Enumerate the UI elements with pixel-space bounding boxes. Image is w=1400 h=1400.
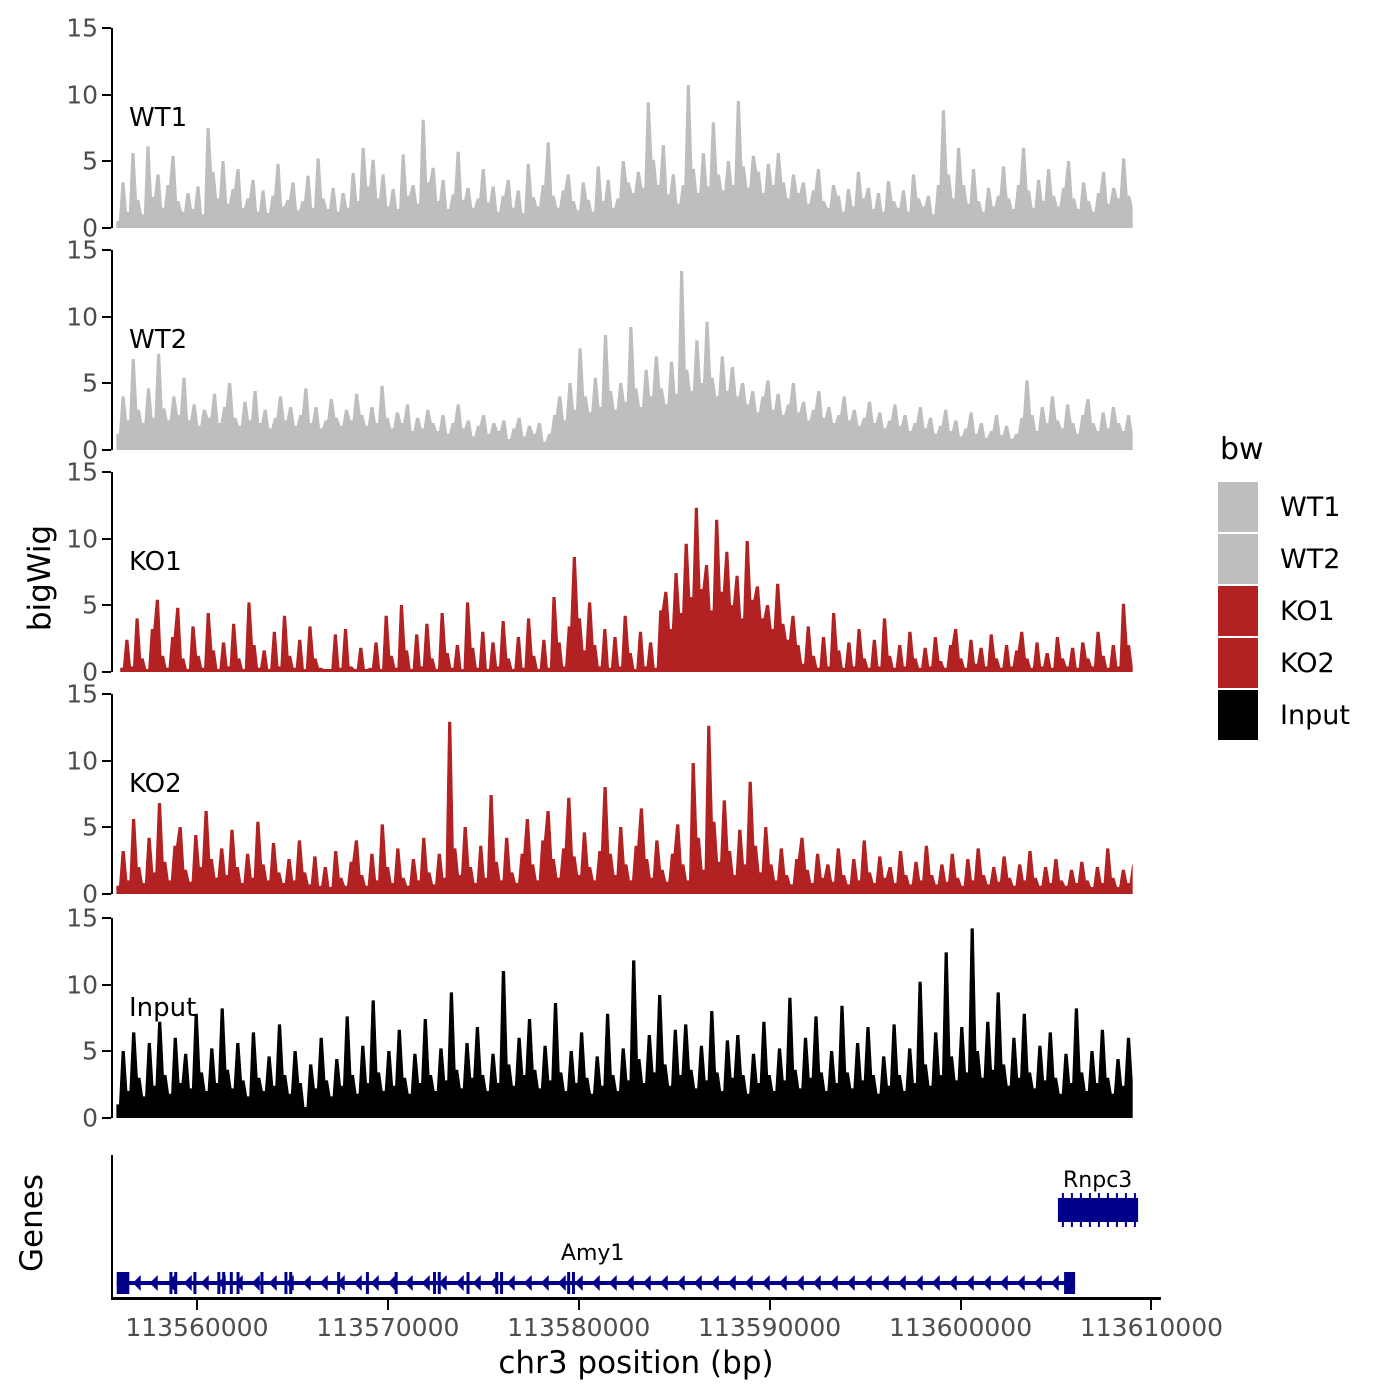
x-axis-title: chr3 position (bp) [111,1345,1161,1381]
y-axis-tick [102,249,111,251]
y-axis-tick-label: 5 [82,369,98,398]
track-panel-ko2: 051015KO2 [111,694,1161,894]
y-axis-tick-label: 15 [66,236,98,265]
track-panel-input: 051015Input [111,918,1161,1118]
x-axis-tick [960,1300,962,1310]
y-axis-tick-label: 10 [66,746,98,775]
y-axis-tick [102,693,111,695]
legend-swatch-wt2 [1218,534,1258,584]
y-axis-tick-label: 5 [82,1037,98,1066]
x-axis-tick-label: 113610000 [1080,1313,1223,1342]
y-axis-tick [102,604,111,606]
track-plot-ko1 [111,472,1161,672]
track-plot-wt2 [111,250,1161,450]
y-axis-tick [102,27,111,29]
legend-item-input[interactable]: Input [1218,689,1350,741]
y-axis-tick-label: 10 [66,302,98,331]
y-axis-tick [102,984,111,986]
gene-track-plot [111,1155,1161,1300]
y-axis-tick-label: 10 [66,970,98,999]
legend-item-wt2[interactable]: WT2 [1218,533,1350,585]
x-axis: 1135600001135700001135800001135900001136… [111,1297,1161,1343]
x-axis-line [111,1297,1161,1300]
legend-item-wt1[interactable]: WT1 [1218,481,1350,533]
y-axis-tick-label: 15 [66,680,98,709]
y-axis-tick-label: 15 [66,904,98,933]
y-axis-tick-label: 10 [66,524,98,553]
x-axis-tick-label: 113580000 [507,1313,650,1342]
gene-label-rnpc3: Rnpc3 [1063,1168,1132,1193]
y-axis-tick-label: 0 [82,1104,98,1133]
x-axis-tick [578,1300,580,1310]
y-axis-tick [102,760,111,762]
track-panel-wt2: 051015WT2 [111,250,1161,450]
y-axis-tick [102,382,111,384]
x-axis-tick [196,1300,198,1310]
x-axis-tick [1150,1300,1152,1310]
gene-label-amy1: Amy1 [561,1241,625,1266]
track-plot-wt1 [111,28,1161,228]
legend-label-input: Input [1280,700,1350,731]
y-axis-tick [102,893,111,895]
y-axis-tick-label: 15 [66,14,98,43]
y-axis-tick [102,449,111,451]
gene-track-panel: Rnpc3Amy1 [111,1155,1161,1300]
legend-title: bw [1220,432,1350,467]
genes-axis-title: Genes [14,1143,50,1303]
y-axis-tick-label: 5 [82,813,98,842]
y-axis-tick [102,538,111,540]
x-axis-tick [769,1300,771,1310]
legend: bw WT1WT2KO1KO2Input [1218,432,1350,741]
legend-swatch-wt1 [1218,482,1258,532]
track-plot-input [111,918,1161,1118]
y-axis-tick [102,227,111,229]
x-axis-tick [387,1300,389,1310]
x-axis-tick-label: 113560000 [125,1313,268,1342]
legend-label-ko2: KO2 [1280,648,1335,679]
legend-label-wt2: WT2 [1280,544,1340,575]
legend-label-wt1: WT1 [1280,492,1340,523]
track-panel-ko1: 051015KO1 [111,472,1161,672]
track-panel-wt1: 051015WT1 [111,28,1161,228]
y-axis-tick [102,826,111,828]
x-axis-tick-label: 113600000 [889,1313,1032,1342]
x-axis-tick-label: 113570000 [316,1313,459,1342]
legend-label-ko1: KO1 [1280,596,1335,627]
y-axis-tick [102,316,111,318]
legend-item-ko2[interactable]: KO2 [1218,637,1350,689]
legend-swatch-ko2 [1218,638,1258,688]
y-axis-tick [102,94,111,96]
track-plot-ko2 [111,694,1161,894]
y-axis-tick [102,471,111,473]
y-axis-tick [102,160,111,162]
y-axis-tick [102,671,111,673]
y-axis-tick [102,1117,111,1119]
legend-items: WT1WT2KO1KO2Input [1218,481,1350,741]
x-axis-tick-label: 113590000 [698,1313,841,1342]
y-axis-tick-label: 5 [82,591,98,620]
y-axis-tick [102,917,111,919]
y-axis-tick-label: 15 [66,458,98,487]
y-axis-title: bigWig [22,478,58,678]
legend-swatch-ko1 [1218,586,1258,636]
y-axis-tick-label: 10 [66,80,98,109]
y-axis-tick-label: 5 [82,147,98,176]
legend-swatch-input [1218,690,1258,740]
y-axis-tick [102,1050,111,1052]
legend-item-ko1[interactable]: KO1 [1218,585,1350,637]
